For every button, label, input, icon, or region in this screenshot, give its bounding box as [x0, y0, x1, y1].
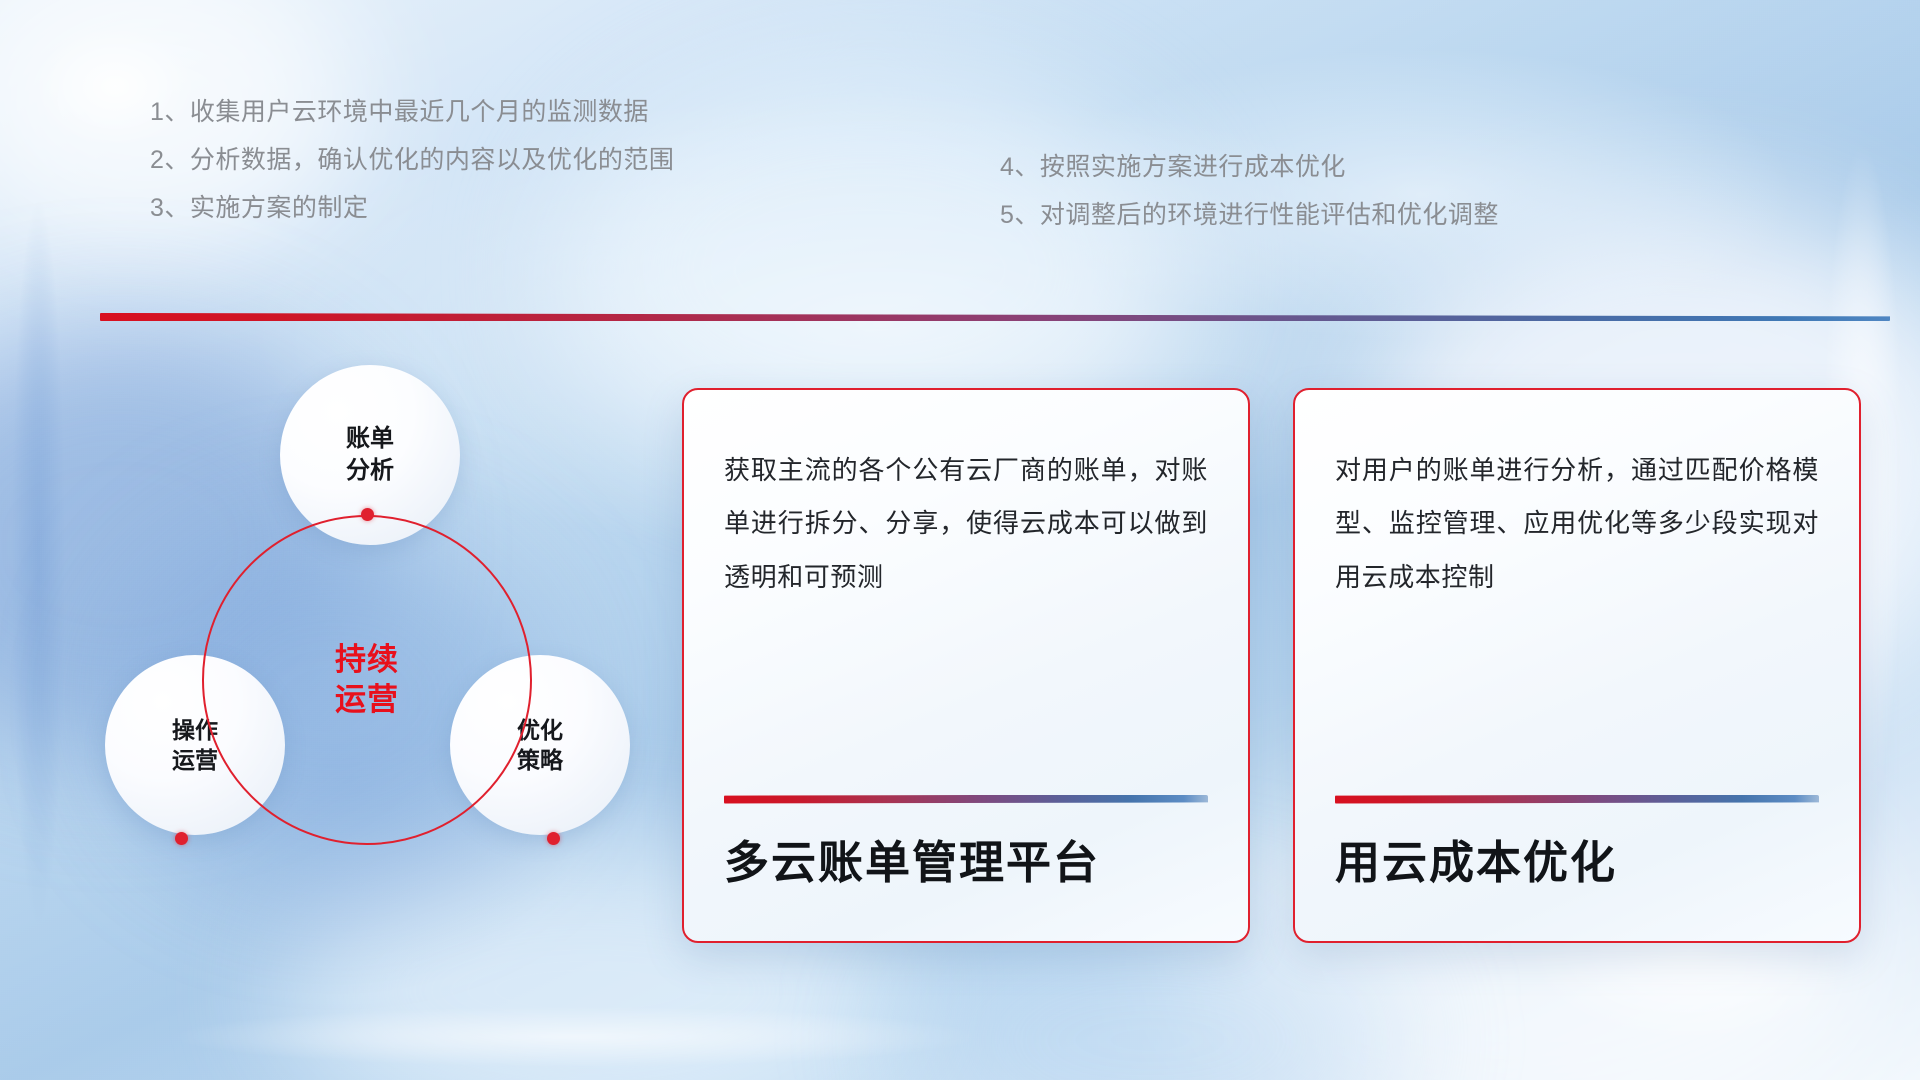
venn-node-bottom-left-icon [175, 832, 188, 845]
bullet-item: 2、分析数据，确认优化的内容以及优化的范围 [150, 148, 674, 173]
card-divider-bar [724, 795, 1208, 804]
bullet-list-left: 1、收集用户云环境中最近几个月的监测数据 2、分析数据，确认优化的内容以及优化的… [150, 100, 674, 244]
venn-center-label: 持续 运营 [202, 515, 532, 845]
venn-center-label-line1: 持续 [335, 640, 399, 680]
venn-node-top-icon [361, 508, 374, 521]
venn-node-bottom-right-icon [547, 832, 560, 845]
venn-circle-label: 账单 分析 [346, 423, 394, 486]
card-divider [724, 795, 1208, 804]
card-divider-bar [1335, 795, 1819, 804]
card-body-text: 对用户的账单进行分析，通过匹配价格模型、监控管理、应用优化等多少段实现对用云成本… [1335, 444, 1819, 604]
card-title: 用云成本优化 [1335, 838, 1819, 888]
section-divider [100, 313, 1890, 321]
venn-label-line1: 账单 [346, 423, 394, 455]
bullet-item: 1、收集用户云环境中最近几个月的监测数据 [150, 100, 674, 125]
info-card-cost-optimization[interactable]: 对用户的账单进行分析，通过匹配价格模型、监控管理、应用优化等多少段实现对用云成本… [1293, 388, 1861, 943]
bullet-item: 5、对调整后的环境进行性能评估和优化调整 [1000, 203, 1499, 228]
venn-diagram: 账单 分析 操作 运营 优化 策略 持续 运营 [95, 355, 640, 935]
card-title: 多云账单管理平台 [724, 838, 1208, 888]
card-body-text: 获取主流的各个公有云厂商的账单，对账单进行拆分、分享，使得云成本可以做到透明和可… [724, 444, 1208, 604]
info-card-multicloud-billing[interactable]: 获取主流的各个公有云厂商的账单，对账单进行拆分、分享，使得云成本可以做到透明和可… [682, 388, 1250, 943]
bullet-list-right: 4、按照实施方案进行成本优化 5、对调整后的环境进行性能评估和优化调整 [1000, 155, 1499, 251]
section-divider-bar [100, 313, 1890, 321]
card-divider [1335, 795, 1819, 804]
bullet-item: 3、实施方案的制定 [150, 196, 674, 221]
venn-label-line2: 分析 [346, 455, 394, 487]
venn-center-label-line2: 运营 [335, 680, 399, 720]
bullet-item: 4、按照实施方案进行成本优化 [1000, 155, 1499, 180]
